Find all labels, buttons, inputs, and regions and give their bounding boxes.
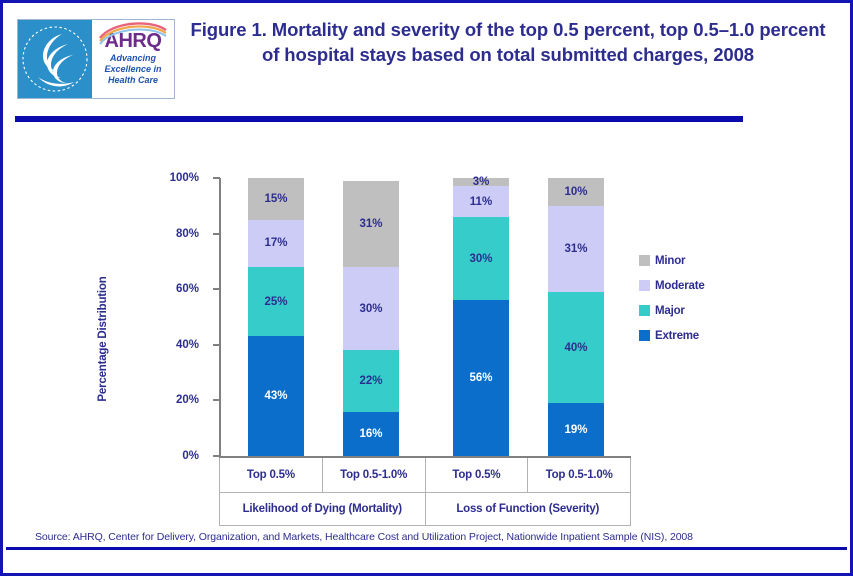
source-note: Source: AHRQ, Center for Delivery, Organ…	[35, 531, 693, 543]
bar-segment[interactable]: 43%	[248, 336, 304, 456]
bar-segment-label: 43%	[264, 390, 287, 402]
bar-segment[interactable]: 19%	[548, 403, 604, 456]
y-axis-title: Percentage Distribution	[97, 229, 109, 449]
y-axis-tick-mark	[213, 399, 220, 401]
bar-segment[interactable]: 16%	[343, 412, 399, 456]
y-axis-tick-mark	[213, 233, 220, 235]
bar-segment[interactable]: 56%	[453, 300, 509, 456]
legend-swatch-icon	[639, 330, 650, 341]
legend-item[interactable]: Moderate	[639, 273, 799, 298]
bar-segment-label: 30%	[469, 253, 492, 265]
y-axis-tick-mark	[213, 177, 220, 179]
footer-divider	[6, 547, 847, 550]
x-axis-category-label: Top 0.5%	[220, 458, 322, 492]
legend-item[interactable]: Major	[639, 298, 799, 323]
bar-segment-label: 17%	[264, 237, 287, 249]
bar-segment-label: 25%	[264, 296, 287, 308]
y-axis-tick-label: 40%	[129, 339, 199, 351]
x-axis-category-label: Top 0.5-1.0%	[527, 458, 630, 492]
x-axis-category-label: Top 0.5-1.0%	[322, 458, 425, 492]
x-axis-category-label: Top 0.5%	[425, 458, 528, 492]
ahrq-wordmark: AHRQ Advancing Excellence in Health Care	[92, 20, 174, 98]
bar-segment[interactable]: 15%	[248, 178, 304, 220]
y-axis-tick-label: 60%	[129, 283, 199, 295]
y-axis-tick-label: 20%	[129, 394, 199, 406]
ahrq-tagline-line-1: Advancing	[104, 53, 161, 64]
legend-label: Major	[655, 305, 685, 317]
chart-area: Percentage Distribution 0%20%40%60%80%10…	[3, 128, 850, 528]
bar-segment-label: 15%	[264, 193, 287, 205]
legend-label: Minor	[655, 255, 685, 267]
x-axis-group-label: Likelihood of Dying (Mortality)	[220, 493, 425, 526]
x-axis-category-table: Top 0.5%Top 0.5-1.0%Top 0.5%Top 0.5-1.0%…	[219, 458, 631, 526]
y-axis-tick-label: 0%	[129, 450, 199, 462]
chart-legend: MinorModerateMajorExtreme	[639, 248, 799, 348]
bar-segment-label: 40%	[564, 342, 587, 354]
bar-segment-label: 31%	[564, 243, 587, 255]
figure-page: AHRQ Advancing Excellence in Health Care…	[0, 0, 853, 576]
stacked-bar[interactable]: 15%17%25%43%	[248, 178, 304, 456]
legend-label: Extreme	[655, 330, 699, 342]
bar-segment-label: 10%	[564, 186, 587, 198]
bar-segment[interactable]: 10%	[548, 178, 604, 206]
stacked-bar[interactable]: 31%30%22%16%	[343, 181, 399, 456]
category-row: Top 0.5%Top 0.5-1.0%Top 0.5%Top 0.5-1.0%	[220, 458, 630, 492]
bar-segment-label: 31%	[359, 218, 382, 230]
figure-header: AHRQ Advancing Excellence in Health Care…	[3, 3, 850, 103]
legend-swatch-icon	[639, 305, 650, 316]
legend-item[interactable]: Minor	[639, 248, 799, 273]
stacked-bar[interactable]: 10%31%40%19%	[548, 178, 604, 456]
bar-segment[interactable]: 31%	[343, 181, 399, 267]
bar-segment[interactable]: 22%	[343, 350, 399, 411]
figure-title: Figure 1. Mortality and severity of the …	[188, 17, 828, 67]
bar-segment[interactable]: 3%	[453, 178, 509, 186]
legend-item[interactable]: Extreme	[639, 323, 799, 348]
bar-segment[interactable]: 31%	[548, 206, 604, 292]
y-axis-tick-mark	[213, 455, 220, 457]
hhs-seal-icon	[18, 20, 92, 98]
bar-segment-label: 19%	[564, 424, 587, 436]
bar-segment-label: 56%	[469, 372, 492, 384]
stacked-bar[interactable]: 3%11%30%56%	[453, 178, 509, 456]
x-axis-group-label: Loss of Function (Severity)	[425, 493, 631, 526]
header-divider	[15, 116, 743, 122]
ahrq-logo: AHRQ Advancing Excellence in Health Care	[17, 19, 175, 99]
legend-label: Moderate	[655, 280, 705, 292]
y-axis-tick-mark	[213, 288, 220, 290]
bar-segment[interactable]: 30%	[343, 267, 399, 350]
ahrq-tagline-line-3: Health Care	[104, 75, 161, 86]
y-axis-tick-label: 80%	[129, 228, 199, 240]
ahrq-tagline-line-2: Excellence in	[104, 64, 161, 75]
legend-swatch-icon	[639, 280, 650, 291]
bar-segment[interactable]: 17%	[248, 220, 304, 267]
bar-segment[interactable]: 25%	[248, 267, 304, 337]
plot-area: 15%17%25%43%31%30%22%16%3%11%30%56%10%31…	[221, 178, 631, 456]
bar-segment[interactable]: 11%	[453, 186, 509, 217]
bar-segment[interactable]: 40%	[548, 292, 604, 403]
y-axis-tick-mark	[213, 344, 220, 346]
bar-segment[interactable]: 30%	[453, 217, 509, 300]
group-row: Likelihood of Dying (Mortality)Loss of F…	[220, 492, 630, 526]
y-axis-tick-label: 100%	[129, 172, 199, 184]
bar-segment-label: 11%	[470, 196, 492, 208]
bar-segment-label: 16%	[359, 428, 382, 440]
bar-segment-label: 22%	[359, 375, 382, 387]
bar-segment-label: 30%	[359, 303, 382, 315]
legend-swatch-icon	[639, 255, 650, 266]
